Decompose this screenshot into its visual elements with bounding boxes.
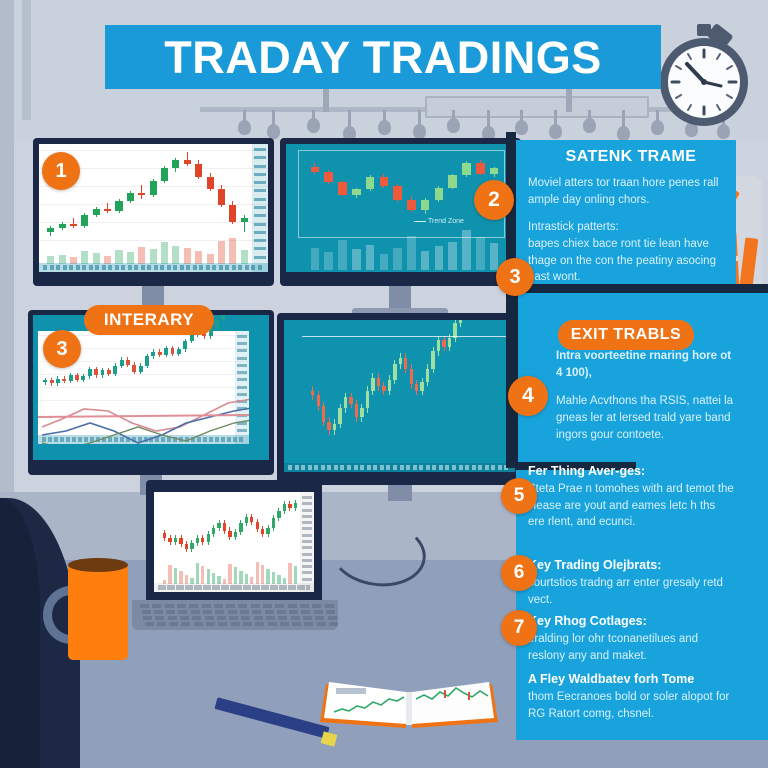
- volume-bar: [229, 238, 236, 264]
- laptop-key: [157, 622, 166, 626]
- volume-bar: [115, 250, 122, 264]
- section-exit-para-1: Intra voorteetine rnaring hore ot 4 100)…: [556, 348, 738, 381]
- monitor-4: [277, 313, 522, 485]
- chart-4-upper-line: [302, 336, 511, 337]
- time-tick: [283, 585, 287, 590]
- candle-body: [377, 378, 380, 387]
- section-averages-heading: Fer Thing Aver-ges:: [528, 464, 734, 478]
- candlestick: [470, 320, 473, 472]
- time-tick: [478, 465, 482, 470]
- time-tick: [203, 585, 207, 590]
- axis-tick-label: [302, 534, 312, 537]
- indicator-line: [42, 405, 249, 443]
- laptop-key: [142, 610, 151, 614]
- time-tick: [134, 265, 138, 270]
- candlestick: [344, 320, 347, 472]
- volume-bar: [490, 243, 499, 270]
- laptop-key: [206, 622, 215, 626]
- time-tick: [141, 265, 145, 270]
- candle-body: [431, 351, 434, 369]
- candle-body: [93, 209, 100, 215]
- time-tick: [426, 465, 430, 470]
- candlestick-chart-laptop: [154, 492, 314, 592]
- pendant-light: [272, 110, 275, 128]
- candlestick: [360, 320, 363, 472]
- candle-body: [459, 320, 462, 323]
- candlestick: [481, 320, 484, 472]
- candlestick: [448, 320, 451, 472]
- candle-body: [349, 397, 352, 404]
- mug-coffee-surface: [68, 558, 128, 572]
- candlestick: [338, 320, 341, 472]
- time-tick: [380, 465, 384, 470]
- laptop-key: [177, 604, 186, 608]
- axis-tick-label: [302, 578, 312, 581]
- time-tick: [206, 265, 210, 270]
- axis-tick-label: [254, 189, 266, 192]
- time-tick: [50, 265, 54, 270]
- section-flex-heading: A Fley Waldbatev forh Tome: [528, 672, 734, 686]
- laptop-key: [252, 610, 261, 614]
- candle-wick: [107, 203, 108, 213]
- candle-body: [185, 544, 188, 549]
- laptop-key: [304, 622, 313, 626]
- candlestick: [497, 320, 500, 472]
- candle-body: [217, 523, 220, 528]
- candle-body: [442, 340, 445, 347]
- candle-body: [234, 532, 237, 537]
- laptop-key: [214, 604, 223, 608]
- laptop-key: [181, 622, 190, 626]
- time-tick: [413, 465, 417, 470]
- laptop-key: [154, 610, 163, 614]
- axis-tick-label: [302, 502, 312, 505]
- volume-bar: [393, 248, 402, 270]
- time-tick: [393, 465, 397, 470]
- laptop-key: [301, 610, 310, 614]
- time-tick: [354, 465, 358, 470]
- monitor-4-screen: [284, 320, 515, 472]
- candle-body: [174, 538, 177, 542]
- time-tick: [180, 585, 184, 590]
- volume-bar: [218, 241, 225, 264]
- candle-body: [104, 209, 111, 211]
- time-tick: [162, 585, 166, 590]
- laptop-key: [329, 622, 338, 626]
- time-tick: [167, 585, 171, 590]
- candle-body: [283, 504, 286, 510]
- badge-6: 6: [501, 555, 537, 591]
- section-key-cottages: Key Rhog Cotlages: eralding lor ohr tcon…: [528, 614, 734, 664]
- time-tick: [212, 585, 216, 590]
- badge-2: 2: [474, 180, 514, 220]
- axis-tick-label: [302, 540, 312, 543]
- monitor-4-stand-neck: [388, 485, 412, 501]
- laptop-key: [277, 610, 286, 614]
- laptop-key: [145, 622, 154, 626]
- time-tick: [167, 265, 171, 270]
- laptop-key: [325, 604, 334, 608]
- candle-body: [161, 168, 168, 180]
- volume-bar: [174, 568, 177, 584]
- volume-bar: [435, 246, 444, 270]
- badge-5: 5: [501, 478, 537, 514]
- time-tick: [498, 465, 502, 470]
- time-tick: [193, 265, 197, 270]
- candlestick: [366, 320, 369, 472]
- time-tick: [251, 265, 255, 270]
- laptop-key: [266, 616, 275, 620]
- candle-body: [393, 364, 396, 379]
- laptop-screen: [154, 492, 314, 592]
- candle-body: [311, 391, 314, 395]
- infographic-canvas: TRADAY TRADINGS: [0, 0, 768, 768]
- axis-tick-label: [302, 546, 312, 549]
- laptop-key: [229, 616, 238, 620]
- candle-body: [207, 534, 210, 541]
- laptop-key: [243, 622, 252, 626]
- laptop-key: [180, 616, 189, 620]
- candlestick: [377, 320, 380, 472]
- section-setup-para-2: Intrastick patterts: bapes chiex bace ro…: [528, 219, 734, 286]
- time-tick: [406, 465, 410, 470]
- stopwatch-icon: [651, 24, 757, 130]
- wall-pillar: [22, 0, 31, 120]
- candlestick: [382, 320, 385, 472]
- candle-body: [410, 369, 413, 384]
- time-tick: [258, 265, 262, 270]
- time-tick: [274, 585, 278, 590]
- candle-body: [317, 395, 320, 406]
- time-tick: [432, 465, 436, 470]
- time-tick: [102, 265, 106, 270]
- time-tick: [491, 465, 495, 470]
- section-key-objects-heading: Key Trading Olejbrats:: [528, 558, 734, 572]
- time-tick: [279, 585, 283, 590]
- candle-body: [355, 404, 358, 417]
- section-key-objects-para: courtstios tradng arr enter gresaly retd…: [528, 575, 734, 608]
- time-tick: [198, 585, 202, 590]
- pendant-light: [383, 110, 386, 124]
- time-tick: [261, 585, 265, 590]
- time-tick: [147, 265, 151, 270]
- laptop-key: [315, 616, 324, 620]
- time-tick: [232, 265, 236, 270]
- candle-body: [256, 522, 259, 529]
- time-tick: [186, 265, 190, 270]
- candle-body: [404, 358, 407, 369]
- time-tick: [108, 265, 112, 270]
- badge-3-monitor: 3: [43, 330, 81, 368]
- candle-body: [448, 338, 451, 347]
- volume-bar: [138, 247, 145, 264]
- time-tick: [400, 465, 404, 470]
- time-tick: [199, 265, 203, 270]
- candle-body: [218, 189, 225, 205]
- ceiling-light-box: [425, 96, 649, 118]
- section-setup-para-1: Moviel atters tor traan hore penes rall …: [528, 175, 734, 208]
- candle-body: [115, 201, 122, 211]
- volume-bar: [150, 249, 157, 264]
- section-exit-para-2: Mahle Acvthons tha RSIS, nattei la gneas…: [556, 393, 738, 443]
- time-tick: [76, 265, 80, 270]
- laptop-key: [317, 622, 326, 626]
- axis-tick-label: [254, 156, 266, 159]
- axis-tick-label: [254, 247, 266, 250]
- axis-tick-label: [302, 565, 312, 568]
- laptop-key: [155, 616, 164, 620]
- badge-3: 3: [496, 258, 534, 296]
- section-key-cottages-para: eralding lor ohr tconanetilues and reslo…: [528, 631, 734, 664]
- volume-bar: [311, 248, 320, 270]
- time-tick: [459, 465, 463, 470]
- time-tick: [234, 585, 238, 590]
- time-tick: [115, 265, 119, 270]
- section-key-cottages-heading: Key Rhog Cotlages:: [528, 614, 734, 628]
- volume-bar: [256, 562, 259, 584]
- candle-body: [415, 384, 418, 391]
- pendant-light: [520, 110, 523, 124]
- candlestick: [426, 320, 429, 472]
- axis-tick-label: [254, 214, 266, 217]
- candle-body: [163, 533, 166, 538]
- candle-body: [212, 528, 215, 534]
- laptop-key: [278, 616, 287, 620]
- time-tick: [245, 265, 249, 270]
- laptop-key: [312, 604, 321, 608]
- candlestick: [475, 320, 478, 472]
- volume-bar: [294, 566, 297, 584]
- candlestick: [327, 320, 330, 472]
- laptop-key: [241, 616, 250, 620]
- candle-body: [241, 218, 248, 222]
- volume-bar: [161, 242, 168, 264]
- laptop-key: [143, 616, 152, 620]
- volume-bar: [239, 571, 242, 584]
- time-tick: [160, 265, 164, 270]
- time-tick: [270, 585, 274, 590]
- candle-body: [70, 224, 77, 226]
- time-tick: [121, 265, 125, 270]
- laptop-key: [328, 616, 337, 620]
- candle-body: [360, 408, 363, 417]
- axis-tick-label: [302, 553, 312, 556]
- candle-body: [426, 369, 429, 382]
- candle-body: [399, 358, 402, 365]
- time-tick: [327, 465, 331, 470]
- candlestick-chart-4: [284, 320, 515, 472]
- candle-body: [245, 517, 248, 523]
- candle-body: [168, 538, 171, 542]
- candle-body: [250, 517, 253, 522]
- candlestick: [317, 320, 320, 472]
- time-tick: [212, 265, 216, 270]
- laptop-key: [254, 616, 263, 620]
- time-tick: [445, 465, 449, 470]
- page-title: TRADAY TRADINGS: [164, 35, 602, 80]
- poster-title-banner: TRADAY TRADINGS: [105, 25, 661, 89]
- axis-tick-label: [302, 571, 312, 574]
- volume-bar: [207, 569, 210, 584]
- laptop-key: [191, 610, 200, 614]
- volume-bar: [201, 566, 204, 584]
- candle-body: [277, 511, 280, 518]
- laptop-key: [194, 622, 203, 626]
- candle-body: [272, 518, 275, 528]
- time-tick: [225, 585, 229, 590]
- section-flex-para: thom Eecranoes bold or soler alopot for …: [528, 689, 734, 722]
- candle-body: [239, 523, 242, 532]
- candle-wick: [229, 315, 230, 316]
- volume-bar: [241, 250, 248, 264]
- volume-bar: [184, 248, 191, 264]
- candlestick: [431, 320, 434, 472]
- time-tick: [243, 585, 247, 590]
- time-tick: [252, 585, 256, 590]
- laptop-key: [205, 616, 214, 620]
- candlestick: [399, 320, 402, 472]
- time-tick: [308, 465, 312, 470]
- time-tick: [301, 585, 305, 590]
- candlestick: [492, 320, 495, 472]
- laptop-key: [238, 604, 247, 608]
- axis-tick-label: [254, 231, 266, 234]
- volume-bar: [288, 563, 291, 584]
- laptop-key: [300, 604, 309, 608]
- section-averages: Fer Thing Aver-ges: Steta Prae n tomohes…: [528, 464, 734, 531]
- candlestick: [283, 492, 286, 592]
- chart-2-annotation-leader: [414, 221, 426, 222]
- candlestick: [311, 320, 314, 472]
- candlestick: [207, 144, 214, 272]
- axis-tick-label: [302, 521, 312, 524]
- volume-bar: [266, 569, 269, 584]
- time-tick: [439, 465, 443, 470]
- volume-bar: [380, 254, 389, 270]
- time-tick: [225, 265, 229, 270]
- laptop-key: [203, 610, 212, 614]
- time-tick: [171, 585, 175, 590]
- time-tick: [158, 585, 162, 590]
- time-tick: [69, 265, 73, 270]
- laptop-key: [140, 604, 149, 608]
- candle-body: [437, 340, 440, 351]
- candle-body: [327, 422, 330, 431]
- info-panel-divider-2: [506, 288, 518, 468]
- pendant-light: [418, 110, 421, 128]
- laptop-key: [291, 616, 300, 620]
- candlestick: [371, 320, 374, 472]
- time-tick: [256, 585, 260, 590]
- label-exit-trabls: EXIT TRABLS: [558, 320, 694, 350]
- volume-bar: [234, 567, 237, 584]
- time-tick: [194, 585, 198, 590]
- laptop-key: [165, 604, 174, 608]
- section-averages-para: Steta Prae n tomohes with ard temot the …: [528, 481, 734, 531]
- volume-bar: [421, 251, 430, 270]
- open-book: [316, 666, 502, 736]
- axis-tick-label: [302, 509, 312, 512]
- time-tick: [472, 465, 476, 470]
- laptop-key: [168, 616, 177, 620]
- laptop-key: [189, 604, 198, 608]
- laptop-key: [228, 610, 237, 614]
- candlestick: [349, 320, 352, 472]
- candlestick: [355, 320, 358, 472]
- candle-body: [196, 538, 199, 543]
- time-tick: [314, 465, 318, 470]
- candlestick: [453, 320, 456, 472]
- volume-bar: [196, 563, 199, 584]
- candle-body: [288, 504, 291, 508]
- wall-left-edge: [0, 0, 14, 500]
- time-tick: [63, 265, 67, 270]
- laptop-key: [166, 610, 175, 614]
- time-tick: [219, 265, 223, 270]
- time-tick: [301, 465, 305, 470]
- laptop-key: [192, 616, 201, 620]
- candle-body: [371, 378, 374, 391]
- time-tick: [265, 585, 269, 590]
- time-tick: [180, 265, 184, 270]
- laptop-key: [292, 622, 301, 626]
- pendant-light: [452, 110, 455, 122]
- candle-body: [344, 397, 347, 408]
- pendant-light: [487, 110, 490, 130]
- time-tick: [485, 465, 489, 470]
- candle-wick: [141, 185, 142, 199]
- candlestick: [223, 492, 226, 592]
- laptop-key: [255, 622, 264, 626]
- time-tick: [360, 465, 364, 470]
- time-tick: [43, 265, 47, 270]
- axis-tick-label: [254, 173, 266, 176]
- time-tick: [221, 585, 225, 590]
- volume-bar: [352, 249, 361, 270]
- time-tick: [419, 465, 423, 470]
- candle-body: [47, 228, 54, 232]
- time-tick: [247, 585, 251, 590]
- candlestick: [333, 320, 336, 472]
- axis-tick-label: [302, 527, 312, 530]
- volume-bar: [324, 252, 333, 270]
- candle-body: [221, 315, 225, 320]
- candle-body: [322, 406, 325, 421]
- badge-1: 1: [42, 152, 80, 190]
- volume-bar: [172, 246, 179, 264]
- candle-body: [201, 538, 204, 542]
- laptop-key: [314, 610, 323, 614]
- laptop-key: [215, 610, 224, 614]
- time-tick: [321, 465, 325, 470]
- laptop-key: [265, 610, 274, 614]
- candle-body: [215, 320, 219, 329]
- candlestick: [415, 320, 418, 472]
- section-setup: SATENK TRAME Moviel atters tor traan hor…: [528, 148, 734, 286]
- laptop-key: [240, 610, 249, 614]
- laptop-key: [289, 610, 298, 614]
- volume-bar: [476, 237, 485, 270]
- time-tick: [154, 265, 158, 270]
- candle-body: [338, 408, 341, 423]
- laptop-key: [263, 604, 272, 608]
- section-flex: A Fley Waldbatev forh Tome thom Eecranoe…: [528, 672, 734, 722]
- section-exit: Intra voorteetine rnaring hore ot 4 100)…: [556, 348, 738, 443]
- pendant-light: [348, 110, 351, 130]
- time-tick: [288, 465, 292, 470]
- time-tick: [185, 585, 189, 590]
- volume-bar: [338, 240, 347, 270]
